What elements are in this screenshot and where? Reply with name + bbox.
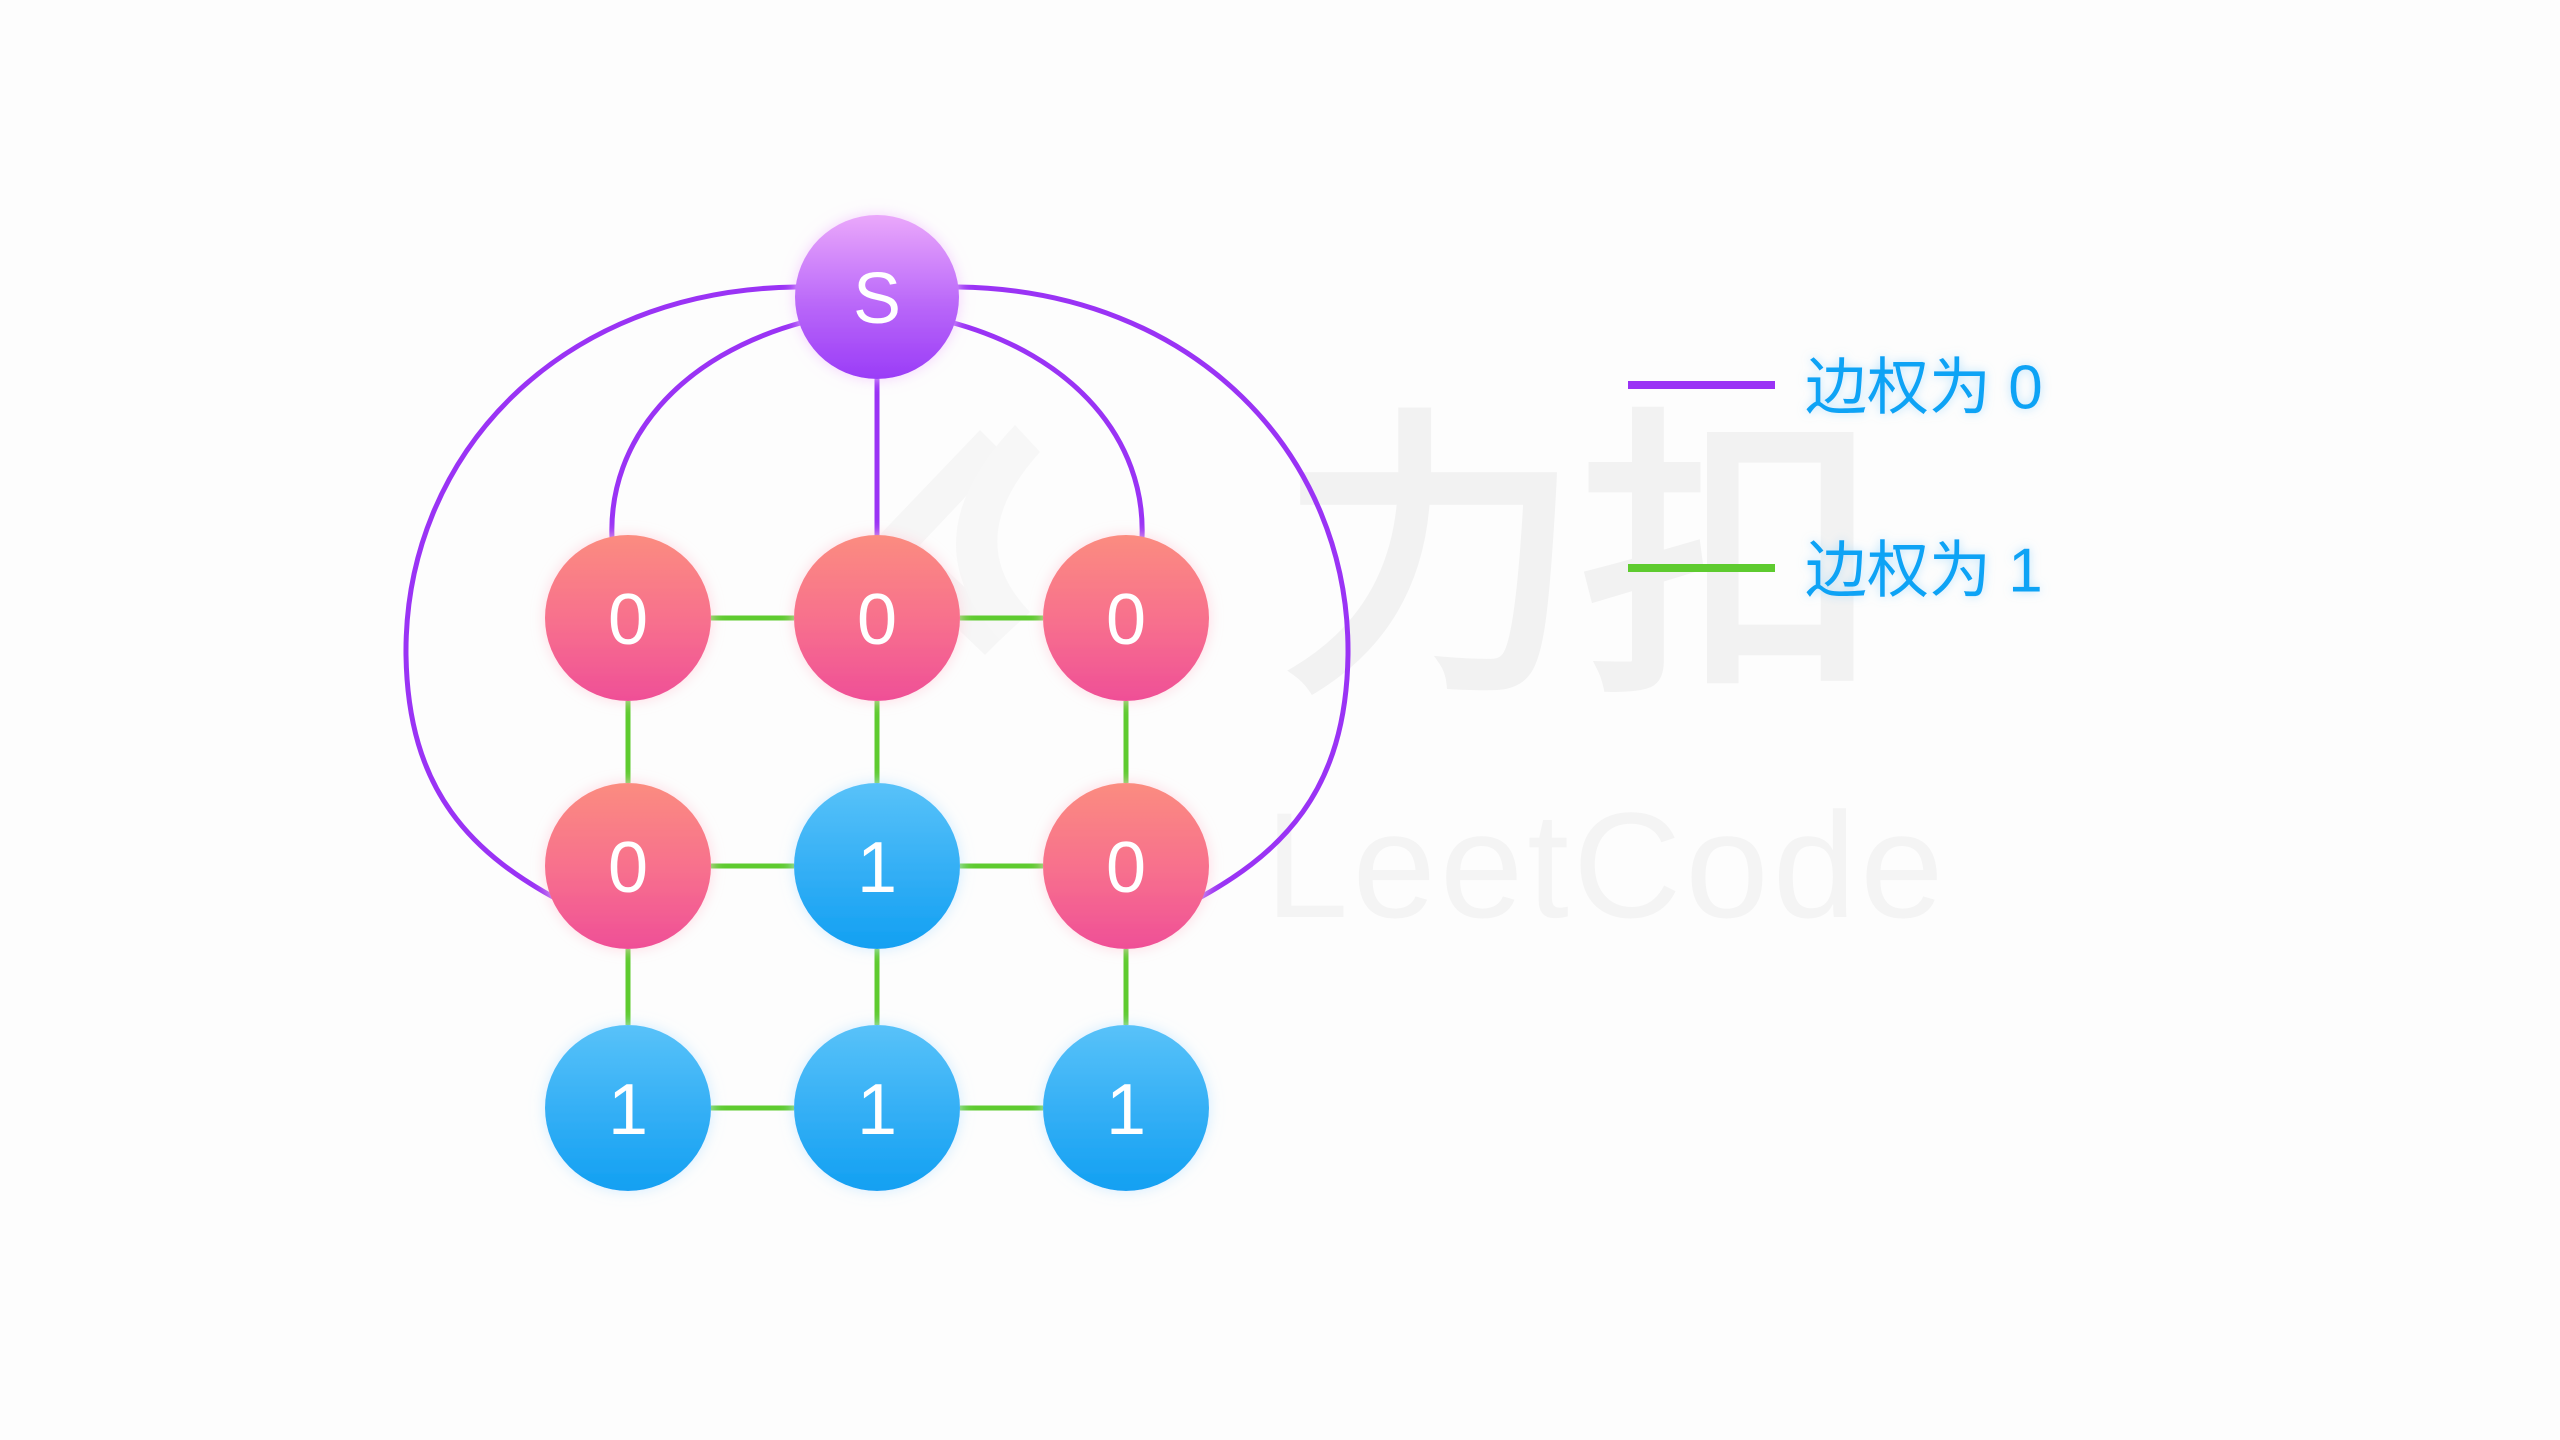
graph-canvas: 力扣 LeetCode [0, 0, 2560, 1440]
node-r2c1-label: 1 [857, 1070, 897, 1150]
node-r0c2-label: 0 [1106, 580, 1146, 660]
node-r0c2[interactable]: 0 [1043, 535, 1209, 701]
node-r0c1[interactable]: 0 [794, 535, 960, 701]
node-r1c0-label: 0 [608, 828, 648, 908]
legend-label-weight-0: 边权为 0 [1805, 354, 2043, 423]
node-r1c2-label: 0 [1106, 828, 1146, 908]
node-r2c2[interactable]: 1 [1043, 1025, 1209, 1191]
legend-label-weight-1: 边权为 1 [1805, 537, 2043, 606]
node-r1c1[interactable]: 1 [794, 783, 960, 949]
node-r1c1-label: 1 [857, 828, 897, 908]
node-r1c2[interactable]: 0 [1043, 783, 1209, 949]
node-r0c0-label: 0 [608, 580, 648, 660]
diagram-stage: 力扣 LeetCode [0, 0, 2560, 1440]
node-r0c0[interactable]: 0 [545, 535, 711, 701]
node-r2c1[interactable]: 1 [794, 1025, 960, 1191]
node-r0c1-label: 0 [857, 580, 897, 660]
watermark-latin-text: LeetCode [1265, 781, 1948, 949]
node-r2c2-label: 1 [1106, 1070, 1146, 1150]
edge-s-to-r0c0 [612, 322, 804, 538]
node-r2c0-label: 1 [608, 1070, 648, 1150]
node-r2c0[interactable]: 1 [545, 1025, 711, 1191]
node-source-s-label: S [853, 259, 901, 339]
node-source-s[interactable]: S [795, 215, 959, 379]
node-r1c0[interactable]: 0 [545, 783, 711, 949]
watermark-cjk-text: 力扣 [1280, 386, 1880, 735]
